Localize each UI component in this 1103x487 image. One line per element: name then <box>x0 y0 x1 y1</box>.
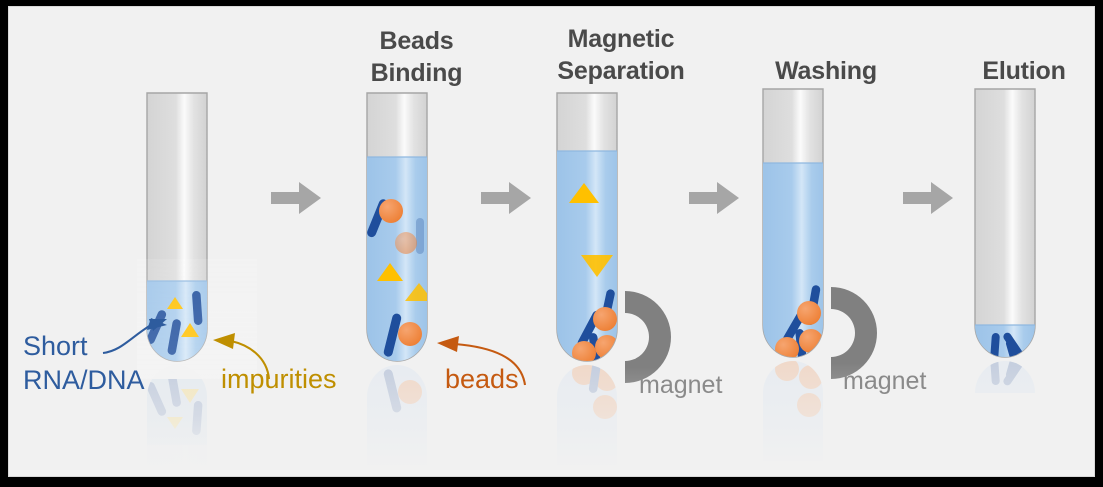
title-line-1: Beads <box>329 25 504 57</box>
step-magnetic-separation: Magnetic Separation <box>521 7 721 477</box>
impurities-label: impurities <box>221 364 337 395</box>
flow-arrow-4 <box>903 181 955 215</box>
step-title-magnetic-separation: Magnetic Separation <box>521 23 721 87</box>
bead <box>797 301 821 325</box>
diagram-panel: Short RNA/DNA impurities Beads Binding <box>8 6 1095 477</box>
rna-dna-label-line1: Short <box>23 329 145 363</box>
title-line-1: Magnetic <box>521 23 721 55</box>
bead <box>593 307 617 331</box>
rna-dna-label-line2: RNA/DNA <box>23 363 145 397</box>
bead-faded <box>395 232 417 254</box>
step-beads-binding: Beads Binding <box>329 7 504 477</box>
reflection-fade <box>957 365 1095 477</box>
step-title-beads-binding: Beads Binding <box>329 25 504 89</box>
step-elution: Elution <box>949 7 1095 477</box>
step-washing: Washing <box>731 7 921 477</box>
rna-dna-label: Short RNA/DNA <box>23 329 145 397</box>
diagram-canvas: Short RNA/DNA impurities Beads Binding <box>0 0 1103 487</box>
step-sample: Short RNA/DNA impurities <box>9 7 269 477</box>
magnet-label-washing: magnet <box>843 367 926 396</box>
bead <box>595 335 619 359</box>
title-line-2: Separation <box>521 55 721 87</box>
bead <box>379 199 403 223</box>
beads-label: beads <box>445 364 519 395</box>
magnet-label-separation: magnet <box>639 371 722 400</box>
flow-arrow-1 <box>271 181 323 215</box>
bead <box>398 322 422 346</box>
rna-rod-faded <box>416 218 424 254</box>
